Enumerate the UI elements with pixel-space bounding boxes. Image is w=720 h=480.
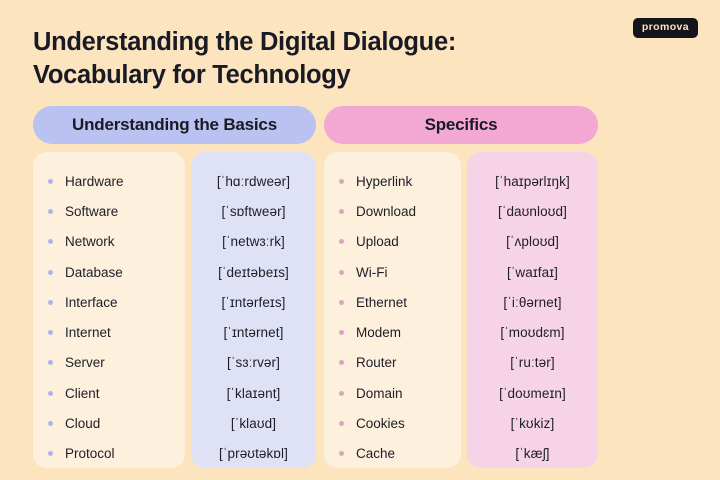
list-item: Client: [33, 378, 185, 408]
column-header-basics: Understanding the Basics: [33, 106, 316, 144]
list-item: Cache: [324, 439, 461, 469]
bullet-icon: [339, 330, 344, 335]
bullet-icon: [48, 270, 53, 275]
vocab-word: Network: [65, 234, 115, 249]
vocab-word: Interface: [65, 295, 118, 310]
list-item: Interface: [33, 287, 185, 317]
phonetic-item: [ˈɪntərnet]: [191, 317, 316, 347]
bullet-icon: [339, 239, 344, 244]
list-item: Server: [33, 348, 185, 378]
vocab-word: Cache: [356, 446, 395, 461]
vocab-word: Server: [65, 355, 105, 370]
vocab-word: Upload: [356, 234, 399, 249]
page-title: Understanding the Digital Dialogue: Voca…: [33, 26, 593, 91]
list-item: Download: [324, 196, 461, 226]
vocab-word: Router: [356, 355, 397, 370]
bullet-icon: [48, 421, 53, 426]
vocabulary-poster: Understanding the Digital Dialogue: Voca…: [0, 0, 720, 480]
bullet-icon: [339, 391, 344, 396]
vocab-word: Hyperlink: [356, 174, 412, 189]
list-item: Domain: [324, 378, 461, 408]
vocab-word: Cookies: [356, 416, 405, 431]
bullet-icon: [339, 451, 344, 456]
phonetic-item: [ˈdoʊmeɪn]: [467, 378, 598, 408]
list-item: Software: [33, 196, 185, 226]
panels-basics: Hardware Software Network Database Inter…: [33, 152, 316, 468]
phonetic-item: [ˈhaɪpərlɪŋk]: [467, 166, 598, 196]
promova-logo: promova: [633, 18, 698, 38]
panels-specifics: Hyperlink Download Upload Wi-Fi Ethernet…: [324, 152, 598, 468]
bullet-icon: [48, 239, 53, 244]
bullet-icon: [48, 209, 53, 214]
phonetic-item: [ˈnetwɜːrk]: [191, 227, 316, 257]
word-panel-basics: Hardware Software Network Database Inter…: [33, 152, 185, 468]
phonetic-item: [ˈwaɪfaɪ]: [467, 257, 598, 287]
bullet-icon: [339, 300, 344, 305]
list-item: Network: [33, 227, 185, 257]
list-item: Cloud: [33, 408, 185, 438]
bullet-icon: [48, 451, 53, 456]
list-item: Internet: [33, 317, 185, 347]
word-panel-specifics: Hyperlink Download Upload Wi-Fi Ethernet…: [324, 152, 461, 468]
bullet-icon: [339, 179, 344, 184]
list-item: Wi-Fi: [324, 257, 461, 287]
bullet-icon: [339, 360, 344, 365]
vocab-word: Hardware: [65, 174, 124, 189]
phonetic-panel-specifics: [ˈhaɪpərlɪŋk] [ˈdaʊnloʊd] [ˈʌploʊd] [ˈwa…: [467, 152, 598, 468]
list-item: Database: [33, 257, 185, 287]
phonetic-item: [ˈmoʊdɛm]: [467, 317, 598, 347]
column-basics: Understanding the Basics Hardware Softwa…: [33, 106, 316, 468]
bullet-icon: [339, 209, 344, 214]
bullet-icon: [48, 330, 53, 335]
phonetic-item: [ˈdaʊnloʊd]: [467, 196, 598, 226]
bullet-icon: [48, 300, 53, 305]
phonetic-item: [ˈhɑːrdweər]: [191, 166, 316, 196]
phonetic-item: [ˈkæʃ]: [467, 439, 598, 469]
list-item: Hyperlink: [324, 166, 461, 196]
vocab-word: Modem: [356, 325, 401, 340]
phonetic-item: [ˈɪntərfeɪs]: [191, 287, 316, 317]
phonetic-item: [ˈdeɪtəbeɪs]: [191, 257, 316, 287]
phonetic-item: [ˈsɒftweər]: [191, 196, 316, 226]
page-title-line-1: Understanding the Digital Dialogue:: [33, 26, 593, 59]
vocab-word: Wi-Fi: [356, 265, 387, 280]
column-specifics: Specifics Hyperlink Download Upload Wi-F…: [324, 106, 598, 468]
vocab-word: Domain: [356, 386, 403, 401]
phonetic-item: [ˈkʊkiz]: [467, 408, 598, 438]
list-item: Ethernet: [324, 287, 461, 317]
bullet-icon: [48, 179, 53, 184]
column-header-specifics: Specifics: [324, 106, 598, 144]
bullet-icon: [48, 360, 53, 365]
phonetic-item: [ˈklaɪənt]: [191, 378, 316, 408]
phonetic-item: [ˈiːθərnet]: [467, 287, 598, 317]
vocab-word: Download: [356, 204, 416, 219]
phonetic-item: [ˈruːtər]: [467, 348, 598, 378]
list-item: Cookies: [324, 408, 461, 438]
phonetic-item: [ˈʌploʊd]: [467, 227, 598, 257]
vocab-word: Database: [65, 265, 123, 280]
phonetic-item: [ˈklaʊd]: [191, 408, 316, 438]
vocab-word: Protocol: [65, 446, 115, 461]
phonetic-item: [ˈsɜːrvər]: [191, 348, 316, 378]
vocab-word: Client: [65, 386, 100, 401]
page-title-line-2: Vocabulary for Technology: [33, 59, 593, 92]
bullet-icon: [339, 270, 344, 275]
vocab-word: Ethernet: [356, 295, 407, 310]
list-item: Modem: [324, 317, 461, 347]
phonetic-item: [ˈprəʊtəkɒl]: [191, 439, 316, 469]
list-item: Hardware: [33, 166, 185, 196]
vocab-word: Software: [65, 204, 118, 219]
vocab-word: Internet: [65, 325, 111, 340]
bullet-icon: [48, 391, 53, 396]
list-item: Upload: [324, 227, 461, 257]
bullet-icon: [339, 421, 344, 426]
vocab-word: Cloud: [65, 416, 100, 431]
list-item: Protocol: [33, 439, 185, 469]
phonetic-panel-basics: [ˈhɑːrdweər] [ˈsɒftweər] [ˈnetwɜːrk] [ˈd…: [191, 152, 316, 468]
list-item: Router: [324, 348, 461, 378]
